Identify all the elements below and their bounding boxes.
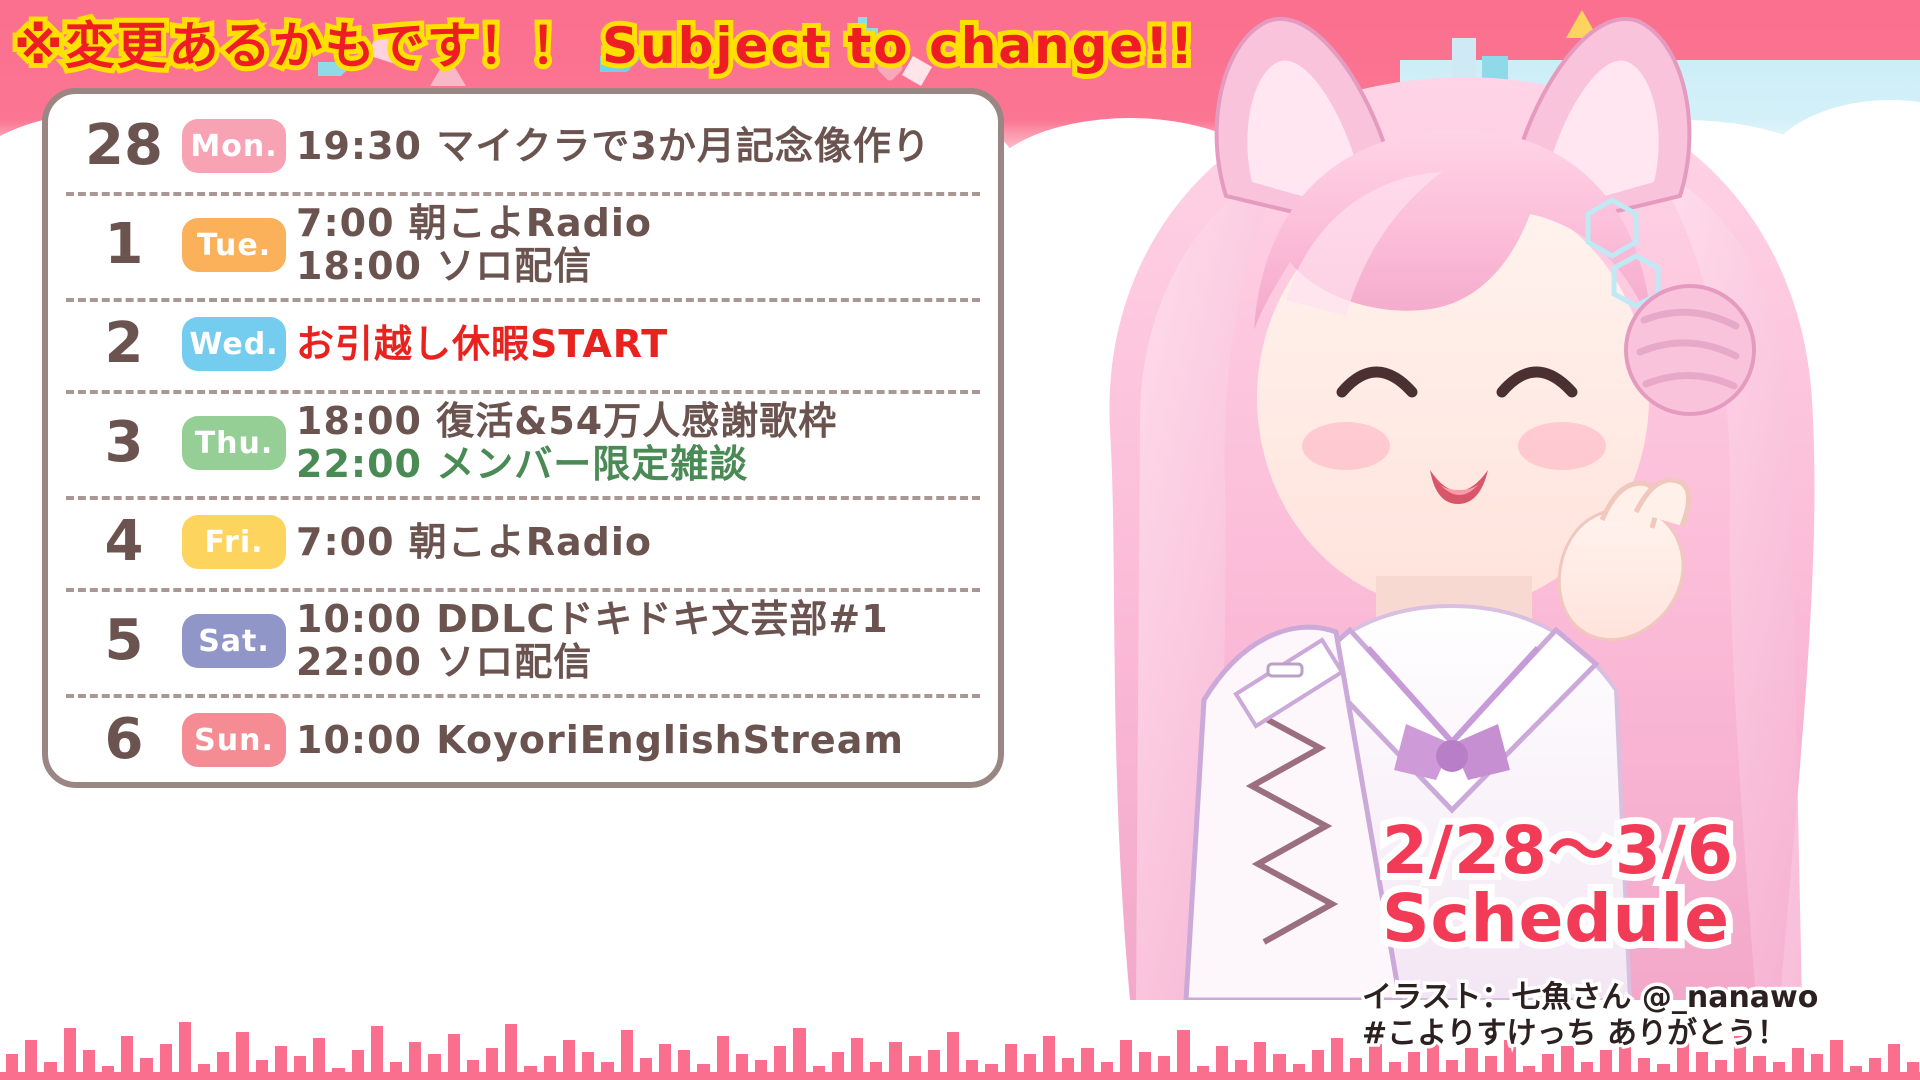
- header-banner: ※変更あるかもです！！ Subject to change!!: [0, 6, 1180, 78]
- equalizer-bar: [1005, 1044, 1017, 1080]
- day-badge-fri: Fri.: [182, 515, 286, 569]
- equalizer-bar: [1581, 1062, 1593, 1080]
- equalizer-bar: [1792, 1048, 1804, 1080]
- equalizer-bar: [1715, 1060, 1727, 1080]
- day-badge-thu: Thu.: [182, 416, 286, 470]
- equalizer-bar: [6, 1054, 18, 1080]
- equalizer-bar: [179, 1022, 191, 1080]
- equalizer-bar: [563, 1040, 575, 1080]
- equalizer-bar: [736, 1054, 748, 1080]
- equalizer-bar: [121, 1036, 133, 1080]
- date-range-title: 2/28〜3/6: [1382, 817, 1902, 884]
- schedule-rows: 28Mon.19:30 マイクラで3か月記念像作り1Tue.7:00 朝こよRa…: [48, 100, 998, 786]
- schedule-entry: 19:30 マイクラで3か月記念像作り: [296, 125, 984, 168]
- date-number: 6: [66, 712, 182, 768]
- equalizer-bar: [1465, 1048, 1477, 1080]
- row-divider: [66, 390, 980, 394]
- equalizer-bar: [1523, 1066, 1535, 1080]
- equalizer-bar: [64, 1028, 76, 1080]
- credit-line-hashtag: #こよりすけっち ありがとう！: [1362, 1016, 1902, 1052]
- equalizer-bar: [832, 1052, 844, 1080]
- equalizer-bar: [467, 1060, 479, 1080]
- schedule-entry: 18:00 ソロ配信: [296, 245, 984, 288]
- equalizer-bar: [83, 1050, 95, 1080]
- equalizer-bar: [793, 1028, 805, 1080]
- equalizer-bar: [1081, 1048, 1093, 1080]
- equalizer-bar: [928, 1050, 940, 1080]
- date-number: 5: [66, 613, 182, 669]
- equalizer-bar: [813, 1066, 825, 1080]
- equalizer-bar: [236, 1032, 248, 1080]
- equalizer-bar: [140, 1058, 152, 1080]
- schedule-word-title: Schedule: [1382, 885, 1902, 952]
- equalizer-bar: [409, 1042, 421, 1080]
- subject-to-change-notice: ※変更あるかもです！！ Subject to change!!: [0, 6, 1195, 78]
- title-block: 2/28〜3/6 Schedule: [1382, 817, 1902, 952]
- equalizer-bar: [448, 1034, 460, 1080]
- schedule-entry: お引越し休暇START: [296, 323, 984, 366]
- equalizer-bar: [1158, 1056, 1170, 1080]
- equalizer-bar: [294, 1056, 306, 1080]
- entry-list: 7:00 朝こよRadio: [290, 521, 984, 564]
- equalizer-bar: [659, 1044, 671, 1080]
- equalizer-bar: [332, 1068, 344, 1080]
- equalizer-bar: [851, 1038, 863, 1080]
- day-badge-tue: Tue.: [182, 218, 286, 272]
- equalizer-bar: [1696, 1052, 1708, 1080]
- equalizer-bar: [44, 1062, 56, 1080]
- equalizer-bar: [505, 1024, 517, 1080]
- equalizer-bar: [1312, 1050, 1324, 1080]
- schedule-row: 1Tue.7:00 朝こよRadio18:00 ソロ配信: [48, 192, 998, 298]
- equalizer-bar: [870, 1062, 882, 1080]
- equalizer-bar: [1120, 1040, 1132, 1080]
- equalizer-bar: [1101, 1062, 1113, 1080]
- equalizer-bar: [1043, 1036, 1055, 1080]
- equalizer-bar: [1869, 1058, 1881, 1080]
- equalizer-bar: [1254, 1042, 1266, 1080]
- equalizer-bar: [1331, 1038, 1343, 1080]
- equalizer-bar: [774, 1046, 786, 1080]
- credit-line-illustrator: イラスト：七魚さん @_nanawo: [1362, 980, 1902, 1016]
- schedule-entry: 18:00 復活&54万人感謝歌枠: [296, 400, 984, 443]
- equalizer-bar: [428, 1054, 440, 1080]
- equalizer-bar: [966, 1060, 978, 1080]
- equalizer-bar: [524, 1066, 536, 1080]
- equalizer-bar: [371, 1026, 383, 1080]
- equalizer-bar: [1197, 1066, 1209, 1080]
- equalizer-bar: [1216, 1046, 1228, 1080]
- equalizer-bar: [1273, 1054, 1285, 1080]
- equalizer-bar: [486, 1048, 498, 1080]
- schedule-entry: 22:00 メンバー限定雑談: [296, 443, 984, 486]
- equalizer-bar: [544, 1056, 556, 1080]
- entry-list: 7:00 朝こよRadio18:00 ソロ配信: [290, 202, 984, 288]
- schedule-row: 28Mon.19:30 マイクラで3か月記念像作り: [48, 100, 998, 192]
- equalizer-bar: [889, 1042, 901, 1080]
- schedule-row: 4Fri.7:00 朝こよRadio: [48, 496, 998, 588]
- equalizer-bar: [1485, 1056, 1497, 1080]
- equalizer-bar: [947, 1032, 959, 1080]
- equalizer-bar: [640, 1058, 652, 1080]
- row-divider: [66, 298, 980, 302]
- equalizer-bar: [1235, 1060, 1247, 1080]
- equalizer-bar: [717, 1036, 729, 1080]
- equalizer-bar: [1024, 1054, 1036, 1080]
- equalizer-bar: [1293, 1064, 1305, 1080]
- equalizer-bar: [1408, 1052, 1420, 1080]
- equalizer-bar: [1600, 1050, 1612, 1080]
- equalizer-bar: [217, 1052, 229, 1080]
- equalizer-bar: [621, 1030, 633, 1080]
- entry-list: 10:00 DDLCドキドキ文芸部#122:00 ソロ配信: [290, 598, 984, 684]
- date-number: 3: [66, 415, 182, 471]
- equalizer-bar: [390, 1062, 402, 1080]
- day-badge-sat: Sat.: [182, 614, 286, 668]
- equalizer-bar: [256, 1060, 268, 1080]
- date-number: 1: [66, 217, 182, 273]
- schedule-entry: 10:00 KoyoriEnglishStream: [296, 719, 984, 762]
- equalizer-bar: [678, 1050, 690, 1080]
- schedule-entry: 7:00 朝こよRadio: [296, 202, 984, 245]
- equalizer-bar: [1850, 1066, 1862, 1080]
- equalizer-bar: [313, 1038, 325, 1080]
- date-number: 2: [66, 316, 182, 372]
- entry-list: 10:00 KoyoriEnglishStream: [290, 719, 984, 762]
- equalizer-bar: [1657, 1064, 1669, 1080]
- schedule-row: 3Thu.18:00 復活&54万人感謝歌枠22:00 メンバー限定雑談: [48, 390, 998, 496]
- equalizer-bar: [1542, 1054, 1554, 1080]
- day-badge-sun: Sun.: [182, 713, 286, 767]
- equalizer-bar: [697, 1064, 709, 1080]
- equalizer-bar: [582, 1052, 594, 1080]
- day-badge-mon: Mon.: [182, 119, 286, 173]
- schedule-row: 6Sun.10:00 KoyoriEnglishStream: [48, 694, 998, 786]
- row-divider: [66, 192, 980, 196]
- artist-credit: イラスト：七魚さん @_nanawo #こよりすけっち ありがとう！: [1362, 980, 1902, 1052]
- schedule-card: 28Mon.19:30 マイクラで3か月記念像作り1Tue.7:00 朝こよRa…: [42, 88, 1004, 788]
- schedule-entry: 10:00 DDLCドキドキ文芸部#1: [296, 598, 984, 641]
- equalizer-bar: [275, 1046, 287, 1080]
- equalizer-bar: [985, 1064, 997, 1080]
- equalizer-bar: [1811, 1054, 1823, 1080]
- schedule-entry: 7:00 朝こよRadio: [296, 521, 984, 564]
- entry-list: 18:00 復活&54万人感謝歌枠22:00 メンバー限定雑談: [290, 400, 984, 486]
- equalizer-bar: [352, 1050, 364, 1080]
- equalizer-bar: [160, 1044, 172, 1080]
- schedule-row: 5Sat.10:00 DDLCドキドキ文芸部#122:00 ソロ配信: [48, 588, 998, 694]
- date-number: 28: [66, 118, 182, 174]
- equalizer-bar: [755, 1060, 767, 1080]
- equalizer-bar: [909, 1056, 921, 1080]
- equalizer-bar: [25, 1040, 37, 1080]
- date-number: 4: [66, 514, 182, 570]
- schedule-row: 2Wed.お引越し休暇START: [48, 298, 998, 390]
- equalizer-bar: [1350, 1058, 1362, 1080]
- equalizer-bar: [198, 1064, 210, 1080]
- day-badge-wed: Wed.: [182, 317, 286, 371]
- equalizer-bar: [1907, 1062, 1919, 1080]
- equalizer-bar: [1638, 1058, 1650, 1080]
- equalizer-bar: [601, 1062, 613, 1080]
- poster-stage: ※変更あるかもです！！ Subject to change!! 28Mon.19…: [0, 0, 1920, 1080]
- equalizer-bar: [1389, 1062, 1401, 1080]
- equalizer-bar: [102, 1066, 114, 1080]
- equalizer-bar: [1177, 1030, 1189, 1080]
- row-divider: [66, 588, 980, 592]
- row-divider: [66, 694, 980, 698]
- schedule-entry: 22:00 ソロ配信: [296, 641, 984, 684]
- equalizer-bar: [1446, 1060, 1458, 1080]
- row-divider: [66, 496, 980, 500]
- entry-list: 19:30 マイクラで3か月記念像作り: [290, 125, 984, 168]
- equalizer-bar: [1062, 1058, 1074, 1080]
- equalizer-bar: [1773, 1062, 1785, 1080]
- equalizer-bar: [1753, 1056, 1765, 1080]
- entry-list: お引越し休暇START: [290, 323, 984, 366]
- equalizer-bar: [1139, 1052, 1151, 1080]
